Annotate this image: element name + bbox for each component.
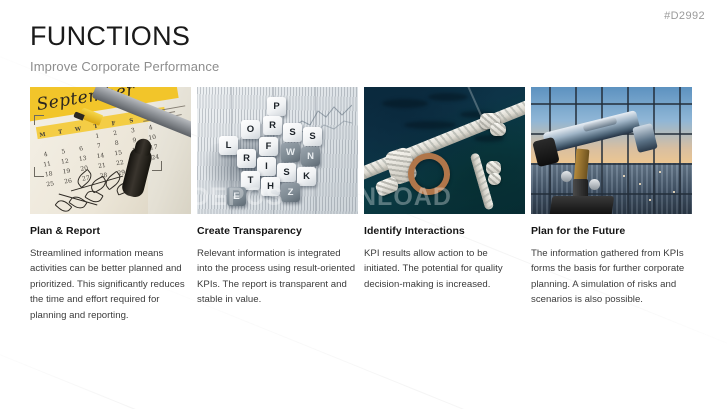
telescope-city-view-photo	[531, 87, 692, 214]
content-column-1: September MTW TFSS 1234 45678910 1112131…	[30, 87, 191, 323]
column-heading: Plan & Report	[30, 225, 191, 238]
mooring-rope-ring-photo: NLOAD	[364, 87, 525, 214]
page-title: FUNCTIONS	[30, 23, 190, 50]
slide-canvas: #D2992 FUNCTIONS Improve Corporate Perfo…	[0, 0, 727, 409]
content-column-4: Plan for the Future The information gath…	[531, 87, 692, 323]
document-id: #D2992	[664, 10, 705, 22]
column-heading: Create Transparency	[197, 225, 358, 238]
column-body-text: Streamlined information means activities…	[30, 246, 191, 324]
column-body-text: The information gathered from KPIs forms…	[531, 246, 692, 308]
page-subtitle: Improve Corporate Performance	[30, 60, 219, 73]
content-column-2: P R O S S L U F W N R I S K T H Z E DEPO…	[197, 87, 358, 323]
calendar-planner-photo: September MTW TFSS 1234 45678910 1112131…	[30, 87, 191, 214]
content-column-3: NLOAD Identify Interactions KPI results …	[364, 87, 525, 323]
column-body-text: Relevant information is integrated into …	[197, 246, 358, 308]
column-heading: Plan for the Future	[531, 225, 692, 238]
column-body-text: KPI results allow action to be initiated…	[364, 246, 525, 293]
content-columns: September MTW TFSS 1234 45678910 1112131…	[30, 87, 697, 323]
letter-cubes-newspaper-photo: P R O S S L U F W N R I S K T H Z E DEPO…	[197, 87, 358, 214]
column-heading: Identify Interactions	[364, 225, 525, 238]
telescope-base	[550, 196, 615, 214]
watermark-streak	[0, 330, 330, 409]
